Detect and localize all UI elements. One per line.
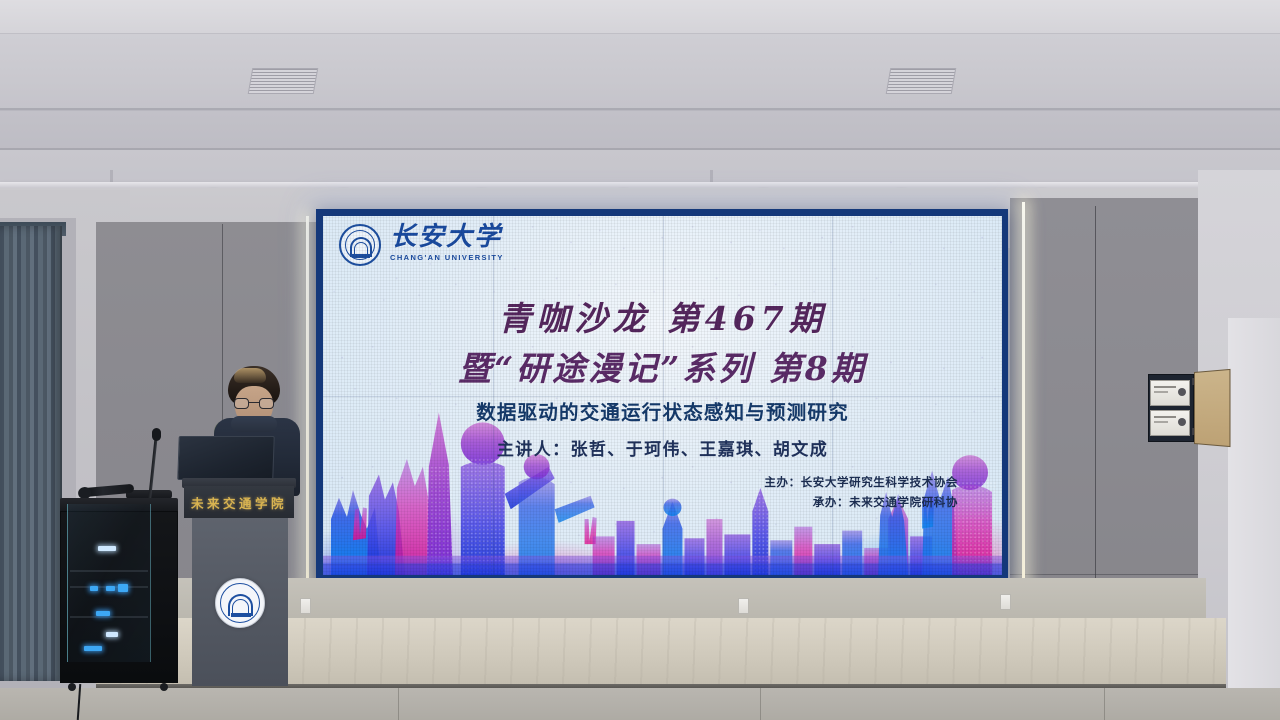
glasses-icon <box>234 398 274 409</box>
hvac-vent-right <box>886 68 957 94</box>
ceiling-band-mid <box>0 110 1280 152</box>
rack-status-led-4 <box>118 584 128 592</box>
changan-university-emblem-icon <box>339 224 381 266</box>
av-equipment-rack[interactable] <box>60 498 178 696</box>
wall-outlet-3[interactable] <box>1000 594 1011 610</box>
rack-status-led-2 <box>90 586 98 591</box>
podium-university-emblem-icon <box>215 578 265 628</box>
rack-glass-door[interactable] <box>67 504 151 662</box>
university-logo: 长安大学 CHANG'AN UNIVERSITY <box>339 224 504 266</box>
wall-outlet-1[interactable] <box>300 598 311 614</box>
led-wall-display[interactable]: 长安大学 CHANG'AN UNIVERSITY 青咖沙龙 第467期 暨“研途… <box>316 209 1008 581</box>
av-device-2 <box>1150 410 1190 436</box>
rack-caster-left <box>68 683 76 691</box>
ceiling-band-upper <box>0 33 1280 111</box>
hvac-vent-left <box>248 68 319 94</box>
presenter-hood-collar <box>231 416 277 432</box>
led-module-seam-h2 <box>323 564 1002 565</box>
rack-shelf-3 <box>70 616 148 618</box>
cabinet-door[interactable] <box>1194 369 1231 447</box>
presenter-laptop[interactable] <box>177 436 275 480</box>
rack-status-led-7 <box>84 646 102 651</box>
podium-body <box>192 518 288 686</box>
wall-far-right-column <box>1228 318 1280 700</box>
rack-status-led-1 <box>98 546 116 551</box>
rack-status-led-5 <box>96 611 110 616</box>
led-module-seam-h1 <box>323 396 1002 397</box>
floor-tile-seam-2 <box>760 688 761 720</box>
lectern-podium[interactable]: 未来交通学院 <box>186 478 292 706</box>
floor-tile-seam-1 <box>398 688 399 720</box>
lecture-hall-scene: 长安大学 CHANG'AN UNIVERSITY 青咖沙龙 第467期 暨“研途… <box>0 0 1280 720</box>
university-name-cn: 长安大学 <box>390 224 504 251</box>
led-display-content: 长安大学 CHANG'AN UNIVERSITY 青咖沙龙 第467期 暨“研途… <box>323 216 1002 575</box>
organizer-block: 主办：长安大学研究生科学技术协会 承办：未来交通学院研科协 <box>764 472 958 512</box>
floor-tile-seam-3 <box>1104 688 1105 720</box>
gooseneck-microphone-head <box>152 428 161 441</box>
rack-shelf-1 <box>70 570 148 572</box>
rack-caster-right <box>160 683 168 691</box>
wall-outlet-2[interactable] <box>738 598 749 614</box>
led-strip-light-left <box>306 216 309 588</box>
window-curtain[interactable] <box>0 226 62 681</box>
university-name-en: CHANG'AN UNIVERSITY <box>390 253 504 262</box>
organizer-line: 主办：长安大学研究生科学技术协会 <box>764 472 958 492</box>
podium-name-plate: 未来交通学院 <box>184 486 294 518</box>
ceiling-upper-slab <box>0 0 1280 36</box>
rack-status-led-3 <box>106 586 115 591</box>
presenter-hair-highlight <box>234 368 266 383</box>
rack-status-led-6 <box>106 632 118 637</box>
co-organizer-line: 承办：未来交通学院研科协 <box>764 492 958 512</box>
podium-label-text: 未来交通学院 <box>191 493 287 512</box>
av-device-1 <box>1150 380 1190 406</box>
wall-panel-right-hseam <box>1010 574 1200 575</box>
